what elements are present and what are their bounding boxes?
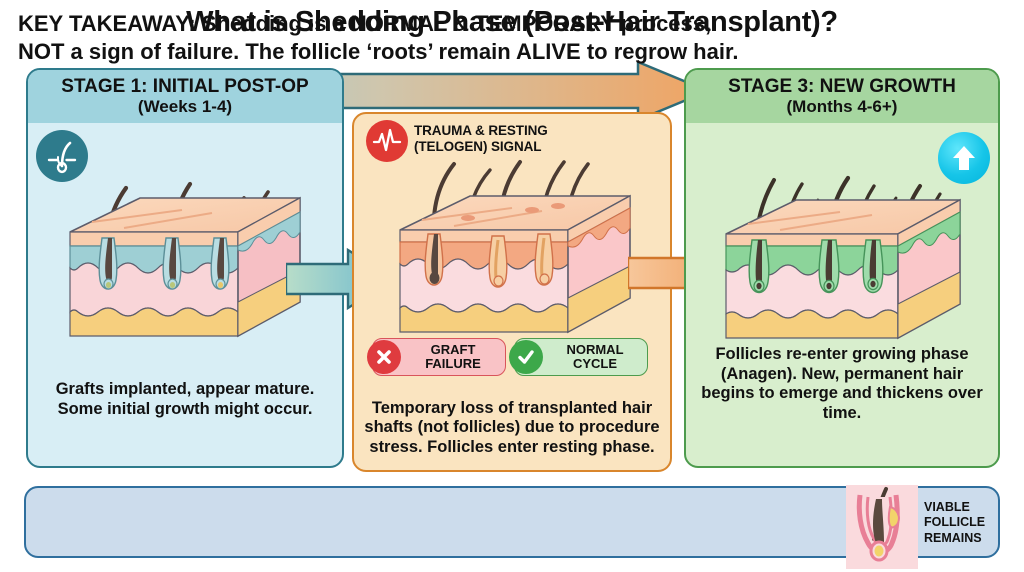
key-takeaway-line2: NOT a sign of failure. The follicle ‘roo…	[18, 38, 838, 66]
stage-2-body-text: Temporary loss of transplanted hair shaf…	[362, 399, 662, 458]
graft-failure-label-line1: GRAFT	[403, 343, 503, 357]
normal-cycle-label-line1: NORMAL	[545, 343, 645, 357]
stage-3-header-main: STAGE 3: NEW GROWTH	[728, 76, 956, 97]
stage-1-body-text: Grafts implanted, appear mature. Some in…	[36, 380, 334, 420]
check-mark-icon	[509, 340, 543, 374]
x-mark-icon	[367, 340, 401, 374]
skin-block-stage-3	[718, 150, 970, 350]
stage-3-body-text: Follicles re-enter growing phase (Anagen…	[694, 345, 990, 424]
key-takeaway-line1: KEY TAKEAWAY: Shedding is a NORMAL & TEM…	[18, 10, 838, 38]
skin-block-stage-1	[62, 150, 310, 350]
skin-block-stage-2	[392, 150, 640, 346]
check-mark-icon-glyph	[515, 346, 537, 368]
graft-failure-label: GRAFT FAILURE	[401, 343, 505, 371]
stage-1-header-sub: (Weeks 1-4)	[34, 97, 336, 116]
stage-1-header-main: STAGE 1: INITIAL POST-OP	[61, 76, 308, 97]
infographic-canvas: What is Shedding Phase (Post-Hair Transp…	[0, 0, 1024, 572]
stage-1-header: STAGE 1: INITIAL POST-OP (Weeks 1-4)	[28, 70, 342, 123]
viable-follicle-label-line3: REMAINS	[924, 531, 1008, 546]
normal-cycle-badge: NORMAL CYCLE	[514, 338, 648, 376]
viable-follicle-label: VIABLE FOLLICLE REMAINS	[924, 500, 1008, 546]
key-takeaway-text: KEY TAKEAWAY: Shedding is a NORMAL & TEM…	[18, 10, 838, 66]
graft-failure-badge: GRAFT FAILURE	[372, 338, 506, 376]
viable-follicle-illustration	[846, 485, 918, 569]
stage-3-header-sub: (Months 4-6+)	[692, 97, 992, 116]
trauma-signal-label-line1: TRAUMA & RESTING	[414, 123, 548, 139]
x-mark-icon-glyph	[373, 346, 395, 368]
stage-3-header: STAGE 3: NEW GROWTH (Months 4-6+)	[686, 70, 998, 123]
normal-cycle-label-line2: CYCLE	[545, 357, 645, 371]
viable-follicle-label-line2: FOLLICLE	[924, 515, 1008, 530]
viable-follicle-label-line1: VIABLE	[924, 500, 1008, 515]
normal-cycle-label: NORMAL CYCLE	[543, 343, 647, 371]
graft-failure-label-line2: FAILURE	[403, 357, 503, 371]
